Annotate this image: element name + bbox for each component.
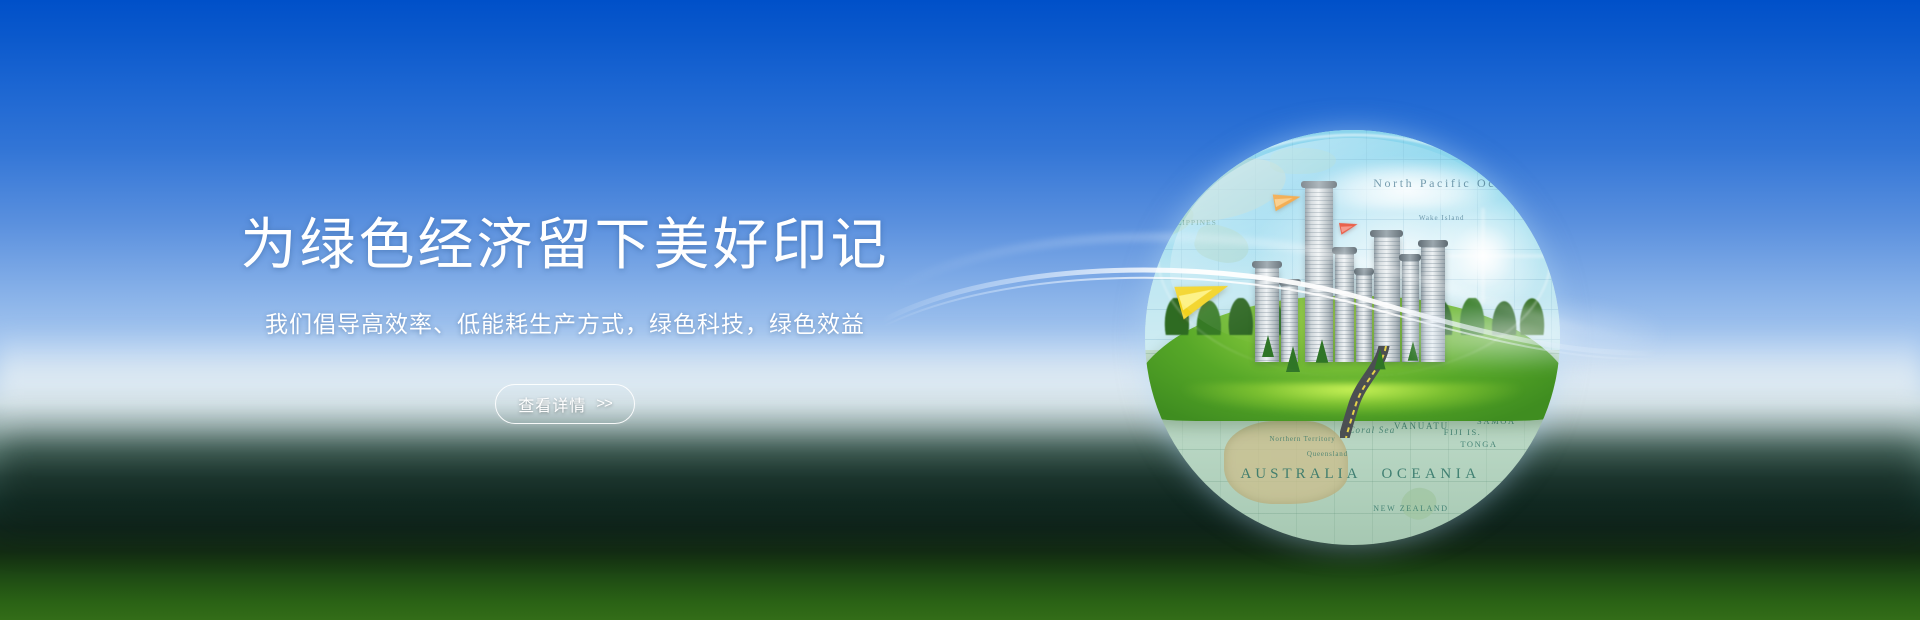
tree-icon [1408, 341, 1419, 361]
tree-icon [1316, 339, 1329, 362]
view-details-button[interactable]: 查看详情 >> [495, 384, 635, 424]
building [1305, 188, 1333, 362]
hero-banner: INDONESIA PAPUA NEW GUINEA SOLOMON ISLAN… [0, 0, 1920, 620]
page-title: 为绿色经济留下美好印记 [241, 214, 890, 276]
building [1421, 247, 1445, 362]
building [1374, 237, 1400, 362]
building [1356, 275, 1371, 362]
tree-icon [1262, 335, 1274, 357]
chevron-right-icon: >> [596, 395, 612, 412]
hero-copy-block: 为绿色经济留下美好印记 我们倡导高效率、低能耗生产方式，绿色科技，绿色效益 查看… [0, 0, 1130, 620]
globe-sphere: INDONESIA PAPUA NEW GUINEA SOLOMON ISLAN… [1145, 130, 1560, 545]
hero-subtitle: 我们倡导高效率、低能耗生产方式，绿色科技，绿色效益 [265, 310, 865, 340]
australia-landmass [1224, 421, 1349, 504]
view-details-label: 查看详情 [518, 392, 586, 416]
building [1335, 254, 1354, 362]
city-skyline [1253, 188, 1469, 362]
tree-icon [1375, 348, 1386, 369]
tree-icon [1286, 346, 1300, 372]
japan-landmass [1270, 148, 1336, 174]
globe-illustration: INDONESIA PAPUA NEW GUINEA SOLOMON ISLAN… [1145, 130, 1560, 545]
